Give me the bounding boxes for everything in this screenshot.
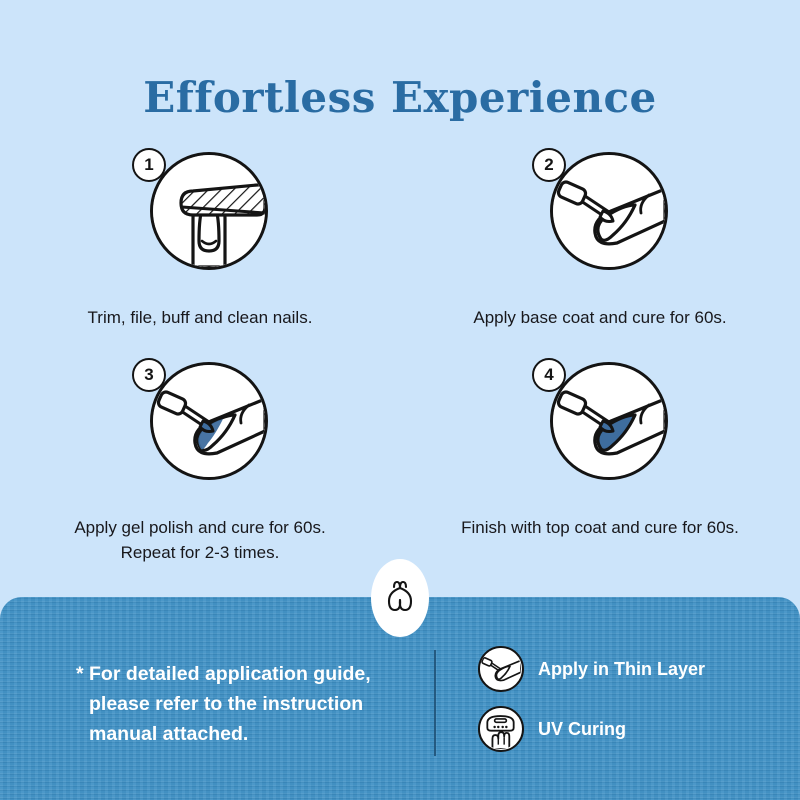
feature-item: Apply in Thin Layer <box>478 646 705 692</box>
step-item: 1 Trim, file, buff and clean nails. <box>0 150 400 360</box>
feature-item: UV Curing <box>478 706 705 752</box>
step-item: 3 Apply gel polish and cure for 60s. Rep… <box>0 360 400 570</box>
steps-grid: 1 Trim, file, buff and clean nails. <box>0 150 800 570</box>
step-number-badge: 2 <box>532 148 566 182</box>
footer-divider <box>434 650 436 756</box>
step-item: 2 Apply base coat and cure for 60s. <box>400 150 800 360</box>
brand-loops-logo-icon <box>371 559 429 637</box>
uv-lamp-icon <box>478 706 524 752</box>
feature-list: Apply in Thin Layer <box>478 646 705 752</box>
step-caption: Apply gel polish and cure for 60s. Repea… <box>50 515 350 565</box>
step-caption: Trim, file, buff and clean nails. <box>50 305 350 330</box>
base-coat-brush-icon <box>550 152 668 270</box>
step-caption: Finish with top coat and cure for 60s. <box>450 515 750 540</box>
step-artwork: 3 <box>132 362 268 498</box>
step-artwork: 2 <box>532 152 668 288</box>
step-number-badge: 3 <box>132 358 166 392</box>
step-number-badge: 1 <box>132 148 166 182</box>
top-coat-brush-icon <box>550 362 668 480</box>
infographic-page: Effortless Experience <box>0 0 800 800</box>
instruction-note: * For detailed application guide, please… <box>76 659 419 749</box>
step-number-badge: 4 <box>532 358 566 392</box>
step-artwork: 1 <box>132 152 268 288</box>
nail-file-icon <box>150 152 268 270</box>
step-item: 4 Finish with top coat and cure for 60s. <box>400 360 800 570</box>
feature-label: UV Curing <box>538 719 626 740</box>
feature-label: Apply in Thin Layer <box>538 659 705 680</box>
page-title: Effortless Experience <box>0 73 800 122</box>
gel-polish-brush-icon <box>150 362 268 480</box>
thin-layer-brush-icon <box>478 646 524 692</box>
step-caption: Apply base coat and cure for 60s. <box>450 305 750 330</box>
step-artwork: 4 <box>532 362 668 498</box>
